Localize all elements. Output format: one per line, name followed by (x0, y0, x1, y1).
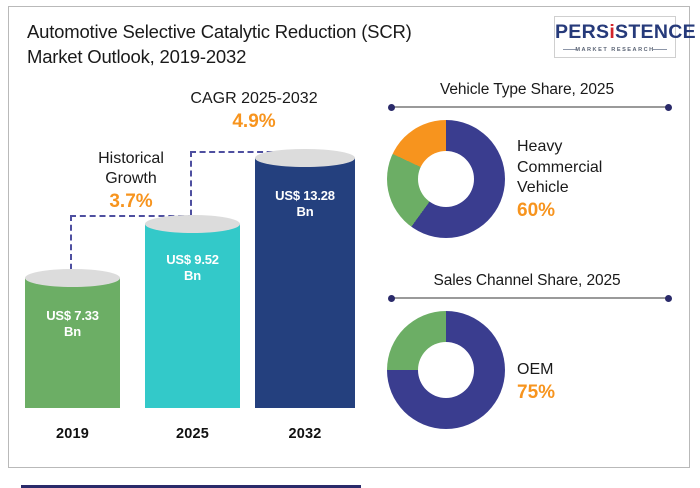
vehicle-type-legend-value: 60% (517, 199, 677, 222)
bar-2032-value-line-2: Bn (297, 204, 314, 219)
historical-growth-annotation: Historical Growth 3.7% (67, 149, 195, 214)
sales-channel-legend-value: 75% (517, 381, 677, 404)
bar-2025: US$ 9.52 Bn 2025 (145, 224, 240, 408)
sales-channel-donut-hole (418, 342, 474, 398)
vehicle-type-donut-hole (418, 151, 474, 207)
historical-growth-value: 3.7% (67, 190, 195, 214)
bar-2025-value-label: US$ 9.52 Bn (145, 252, 240, 284)
divider-dot-right-icon (665, 295, 672, 302)
sales-channel-legend-label: OEM (517, 360, 677, 381)
divider-dot-left-icon (388, 104, 395, 111)
infographic-card: Automotive Selective Catalytic Reduction… (8, 6, 690, 468)
vehicle-type-legend-label-line-2: Commercial (517, 158, 677, 179)
cagr-annotation-value: 4.9% (179, 110, 329, 134)
vehicle-type-legend: Heavy Commercial Vehicle 60% (517, 137, 677, 222)
vehicle-type-divider (391, 106, 669, 108)
page-title: Automotive Selective Catalytic Reduction… (27, 19, 427, 69)
bar-2019-cylinder-top (25, 269, 120, 287)
vehicle-type-share-title: Vehicle Type Share, 2025 (377, 81, 677, 99)
bar-2019-body (25, 278, 120, 408)
bar-2032-cylinder-top (255, 149, 355, 167)
sales-channel-divider (391, 297, 669, 299)
share-panel: Vehicle Type Share, 2025 Heavy Commercia… (377, 67, 691, 467)
bar-2019-value-label: US$ 7.33 Bn (25, 308, 120, 340)
bar-2025-value-line-1: US$ 9.52 (166, 252, 219, 267)
historical-growth-label-line-2: Growth (67, 169, 195, 189)
logo-wordmark-part1: PERS (555, 21, 609, 43)
bar-2019-value-line-1: US$ 7.33 (46, 308, 99, 323)
bar-2032-value-line-1: US$ 13.28 (275, 188, 335, 203)
logo-wordmark-part2: STENCE (615, 21, 696, 43)
bar-2019-category-label: 2019 (25, 426, 120, 442)
historical-growth-label-line-1: Historical (67, 149, 195, 169)
sales-channel-share-title: Sales Channel Share, 2025 (377, 272, 677, 290)
page-title-line-1: Automotive Selective Catalytic Reduction… (27, 19, 427, 44)
bar-2025-category-label: 2025 (145, 426, 240, 442)
vehicle-type-legend-label-line-3: Vehicle (517, 178, 677, 199)
sales-channel-donut-chart (387, 311, 505, 429)
logo-tagline: MARKET RESEARCH (555, 47, 675, 53)
bar-2032-value-label: US$ 13.28 Bn (255, 188, 355, 220)
logo-wordmark: PERSiSTENCE (555, 21, 675, 44)
bar-2025-value-line-2: Bn (184, 268, 201, 283)
vehicle-type-donut-chart (387, 120, 505, 238)
bar-2032: US$ 13.28 Bn 2032 (255, 158, 355, 408)
vehicle-type-legend-label-line-1: Heavy (517, 137, 677, 158)
sales-channel-legend: OEM 75% (517, 360, 677, 404)
bar-2019: US$ 7.33 Bn 2019 (25, 278, 120, 408)
persistence-market-research-logo: PERSiSTENCE MARKET RESEARCH (554, 16, 676, 58)
bar-2032-category-label: 2032 (255, 426, 355, 442)
bar-2025-cylinder-top (145, 215, 240, 233)
cagr-annotation: CAGR 2025-2032 4.9% (179, 89, 329, 134)
divider-dot-left-icon (388, 295, 395, 302)
page-title-line-2: Market Outlook, 2019-2032 (27, 44, 427, 69)
divider-dot-right-icon (665, 104, 672, 111)
cagr-annotation-label: CAGR 2025-2032 (179, 89, 329, 109)
bar-chart: CAGR 2025-2032 4.9% Historical Growth 3.… (9, 67, 369, 467)
bar-2019-value-line-2: Bn (64, 324, 81, 339)
